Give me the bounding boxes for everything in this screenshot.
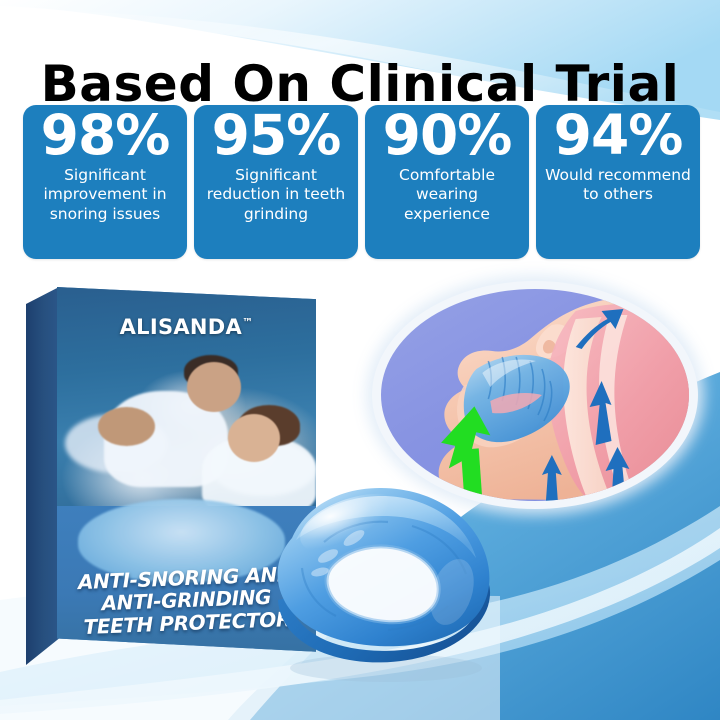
stat-card-grinding-reduction: 95% Significant reduction in teeth grind… bbox=[194, 105, 358, 259]
stat-card-recommend: 94% Would recommend to others bbox=[536, 105, 700, 259]
package-side-panel bbox=[26, 287, 59, 665]
stat-label: Significant reduction in teeth grinding bbox=[194, 165, 358, 225]
stat-card-snoring-improvement: 98% Significant improvement in snoring i… bbox=[23, 105, 187, 259]
stat-value: 98% bbox=[41, 107, 170, 165]
stat-value: 90% bbox=[383, 107, 512, 165]
illustration-scene bbox=[381, 289, 689, 501]
mouthguard-product-shot bbox=[262, 472, 502, 687]
clinical-stats-row: 98% Significant improvement in snoring i… bbox=[23, 105, 700, 259]
stat-label: Significant improvement in snoring issue… bbox=[23, 165, 187, 225]
stat-label: Comfortable wearing experience bbox=[365, 165, 529, 225]
stat-label: Would recommend to others bbox=[536, 165, 700, 205]
airway-diagram-svg bbox=[381, 289, 689, 501]
brand-text: ALISANDA bbox=[120, 315, 242, 339]
sleeper-man-head bbox=[187, 362, 241, 412]
sleeper-man-arm bbox=[98, 407, 155, 446]
package-brand-name: ALISANDA™ bbox=[57, 315, 316, 339]
page-title: Based On Clinical Trial bbox=[0, 57, 720, 112]
trademark-symbol: ™ bbox=[242, 316, 253, 329]
stat-card-comfort: 90% Comfortable wearing experience bbox=[365, 105, 529, 259]
stat-value: 94% bbox=[554, 107, 683, 165]
sleeper-woman-head bbox=[228, 414, 280, 462]
stat-value: 95% bbox=[212, 107, 341, 165]
poster-canvas: Based On Clinical Trial 98% Significant … bbox=[0, 0, 720, 720]
mouthguard-svg bbox=[262, 472, 502, 687]
